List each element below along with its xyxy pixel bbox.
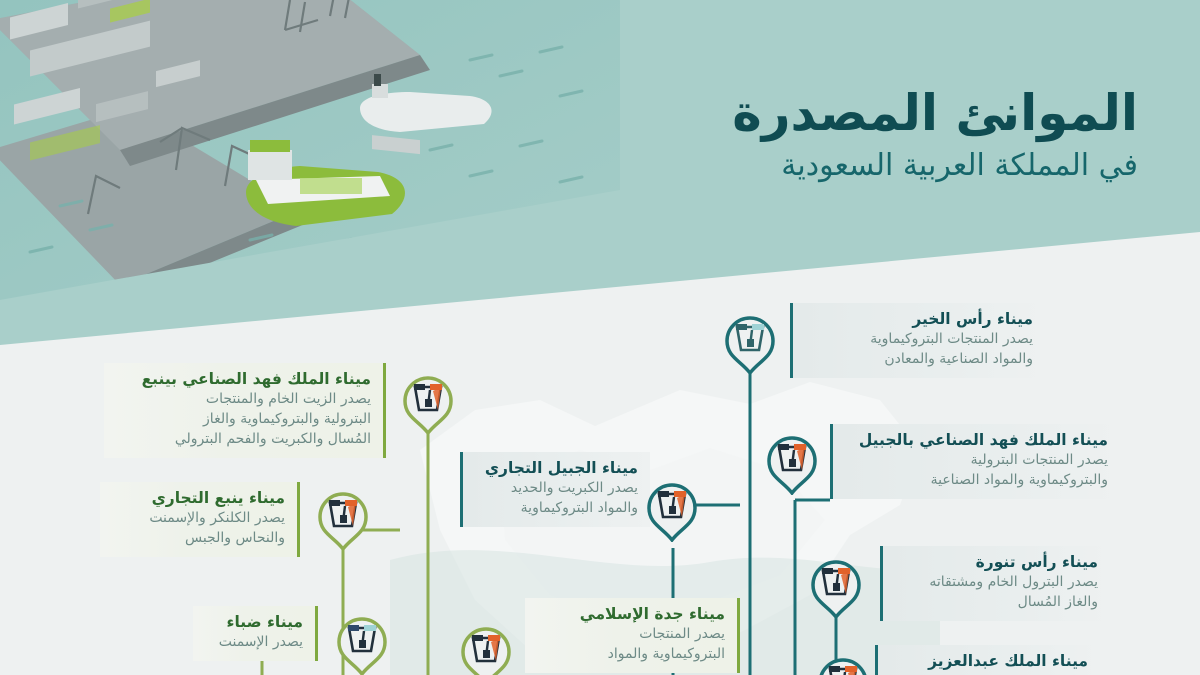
- marker-pin-ras-al-khair[interactable]: [719, 301, 781, 375]
- port-exports-line: يصدر البترول الخام ومشتقاته: [895, 573, 1098, 593]
- infographic-canvas: الموانئ المصدرة في المملكة العربية السعو…: [0, 0, 1200, 675]
- port-exports-line: يصدر الإسمنت: [205, 633, 303, 653]
- port-card-king-fahd-industrial-jubail[interactable]: ميناء الملك فهد الصناعي بالجبيل يصدر الم…: [830, 424, 1120, 499]
- port-card-king-abdulaziz[interactable]: ميناء الملك عبدالعزيز: [875, 645, 1100, 675]
- port-exports-line: والنحاس والجبس: [112, 529, 285, 549]
- ship-black-cargo: [344, 268, 531, 320]
- port-name: ميناء الملك فهد الصناعي بينبع: [116, 369, 371, 390]
- port-name: ميناء الجبيل التجاري: [475, 458, 638, 479]
- port-card-ras-al-khair[interactable]: ميناء رأس الخير يصدر المنتجات البتروكيما…: [790, 303, 1045, 378]
- port-exports-line: والغاز المُسال: [895, 593, 1098, 613]
- port-card-jeddah-islamic[interactable]: ميناء جدة الإسلامي يصدر المنتجات البتروك…: [525, 598, 740, 673]
- marker-pin-king-abdulaziz[interactable]: [812, 643, 874, 675]
- port-exports-line: المُسال والكبريت والفحم البترولي: [116, 430, 371, 450]
- port-exports-line: والبتروكيماوية والمواد الصناعية: [845, 471, 1108, 491]
- port-name: ميناء جدة الإسلامي: [537, 604, 725, 625]
- page-subtitle: في المملكة العربية السعودية: [732, 150, 1138, 182]
- port-exports-line: والمواد الصناعية والمعادن: [805, 350, 1033, 370]
- port-card-jubail-commercial[interactable]: ميناء الجبيل التجاري يصدر الكبريت والحدي…: [460, 452, 650, 527]
- port-exports-line: يصدر الكبريت والحديد: [475, 479, 638, 499]
- port-exports-line: يصدر الزيت الخام والمنتجات: [116, 390, 371, 410]
- port-exports-line: البتروكيماوية والمواد: [537, 645, 725, 665]
- port-exports-line: والمواد البتروكيماوية: [475, 499, 638, 519]
- port-name: ميناء الملك فهد الصناعي بالجبيل: [845, 430, 1108, 451]
- port-name: ميناء الملك عبدالعزيز: [890, 651, 1088, 672]
- port-name: ميناء رأس الخير: [805, 309, 1033, 330]
- port-exports-line: يصدر المنتجات: [537, 625, 725, 645]
- port-card-ras-tanura[interactable]: ميناء رأس تنورة يصدر البترول الخام ومشتق…: [880, 546, 1110, 621]
- port-card-king-fahd-industrial-yanbu[interactable]: ميناء الملك فهد الصناعي بينبع يصدر الزيت…: [104, 363, 386, 458]
- port-card-duba[interactable]: ميناء ضباء يصدر الإسمنت: [193, 606, 318, 661]
- marker-pin-jubail-commercial[interactable]: [641, 468, 703, 542]
- port-exports-line: يصدر الكلنكر والإسمنت: [112, 509, 285, 529]
- marker-pin-yanbu-commercial[interactable]: [312, 477, 374, 551]
- port-exports-line: يصدر المنتجات البترولية: [845, 451, 1108, 471]
- port-exports-line: البترولية والبتروكيماوية والغاز: [116, 410, 371, 430]
- marker-pin-king-fahd-industrial-yanbu[interactable]: [397, 361, 459, 435]
- port-exports-line: يصدر المنتجات البتروكيماوية: [805, 330, 1033, 350]
- header-text-block: الموانئ المصدرة في المملكة العربية السعو…: [732, 86, 1138, 182]
- port-illustration: [0, 0, 620, 320]
- port-name: ميناء رأس تنورة: [895, 552, 1098, 573]
- marker-pin-ras-tanura[interactable]: [805, 545, 867, 619]
- port-card-yanbu-commercial[interactable]: ميناء ينبع التجاري يصدر الكلنكر والإسمنت…: [100, 482, 300, 557]
- page-title: الموانئ المصدرة: [732, 86, 1138, 140]
- port-name: ميناء ينبع التجاري: [112, 488, 285, 509]
- port-name: ميناء ضباء: [205, 612, 303, 633]
- marker-pin-jeddah-islamic[interactable]: [455, 612, 517, 675]
- marker-pin-king-fahd-industrial-jubail[interactable]: [761, 421, 823, 495]
- marker-pin-duba[interactable]: [331, 602, 393, 675]
